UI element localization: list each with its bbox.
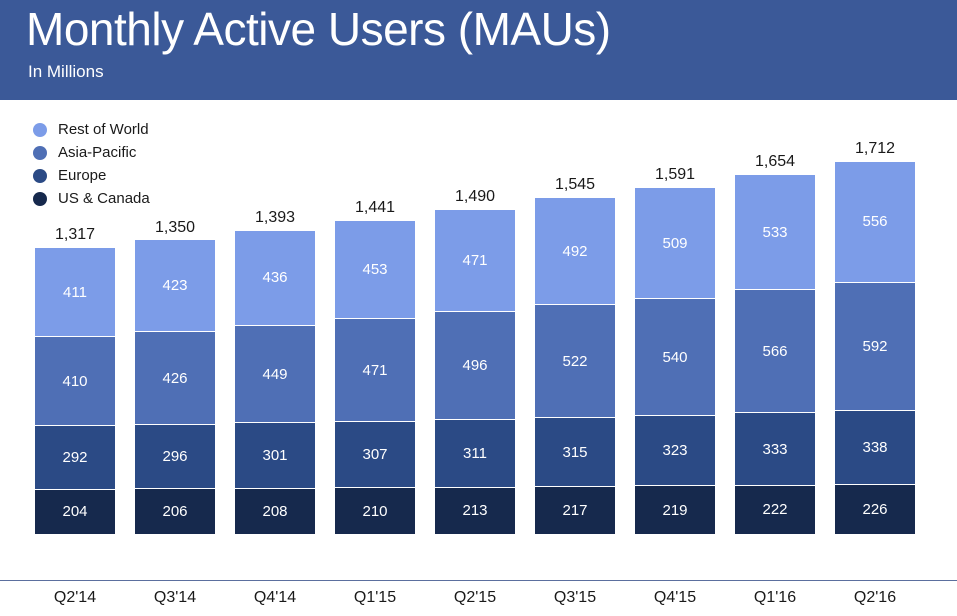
bar-segment: 533 [735, 175, 815, 291]
x-axis-tick-label: Q4'14 [225, 589, 325, 607]
bar-segment: 323 [635, 416, 715, 486]
bar-total-label: 1,545 [535, 176, 615, 194]
bar-segment-value: 296 [162, 448, 187, 465]
bar-segment: 213 [435, 488, 515, 534]
bar-segment: 471 [435, 210, 515, 312]
x-axis-tick-label: Q2'16 [825, 589, 925, 607]
page-title: Monthly Active Users (MAUs) [26, 2, 611, 56]
bar-segment: 449 [235, 326, 315, 424]
bar-segment: 496 [435, 312, 515, 420]
bar-segment-value: 453 [362, 261, 387, 278]
bar-segment: 540 [635, 299, 715, 416]
x-axis-tick-label: Q1'15 [325, 589, 425, 607]
slide: Monthly Active Users (MAUs) In Millions … [0, 0, 957, 616]
bar-segment-value: 226 [862, 501, 887, 518]
bar-segment-value: 219 [662, 502, 687, 519]
stacked-bar: 453471307210 [335, 221, 415, 534]
bar-segment-value: 592 [862, 338, 887, 355]
bar-segment-value: 471 [462, 252, 487, 269]
bar-segment: 423 [135, 240, 215, 332]
bar-total-label: 1,317 [35, 226, 115, 244]
bar-total-label: 1,712 [835, 140, 915, 158]
bar-segment: 204 [35, 490, 115, 534]
x-axis-tick-label: Q3'14 [125, 589, 225, 607]
bar-total-label: 1,441 [335, 199, 415, 217]
bar-total-label: 1,490 [435, 188, 515, 206]
bar-segment: 206 [135, 489, 215, 534]
bar-segment: 566 [735, 290, 815, 413]
bar-segment-value: 301 [262, 447, 287, 464]
bar-segment: 333 [735, 413, 815, 485]
bar-segment: 219 [635, 486, 715, 534]
x-axis-labels: Q2'14Q3'14Q4'14Q1'15Q2'15Q3'15Q4'15Q1'16… [0, 581, 957, 616]
bar-segment-value: 217 [562, 502, 587, 519]
bar-segment-value: 540 [662, 349, 687, 366]
bar-segment: 411 [35, 248, 115, 337]
stacked-bar: 492522315217 [535, 198, 615, 534]
bar-segment: 556 [835, 162, 915, 283]
bar-segment-value: 509 [662, 235, 687, 252]
stacked-bar: 509540323219 [635, 188, 715, 534]
bar-segment-value: 566 [762, 343, 787, 360]
bar-segment-value: 222 [762, 501, 787, 518]
x-axis-tick-label: Q3'15 [525, 589, 625, 607]
bar-segment-value: 206 [162, 503, 187, 520]
bar-segment: 338 [835, 411, 915, 484]
bar-segment-value: 292 [62, 449, 87, 466]
chart-plot-area: 4114102922041,3174234262962061,350436449… [0, 100, 957, 616]
bar-segment: 292 [35, 426, 115, 489]
bar-segment-value: 533 [762, 224, 787, 241]
bar-segment-value: 492 [562, 243, 587, 260]
x-axis-tick-label: Q2'15 [425, 589, 525, 607]
bar-segment: 410 [35, 337, 115, 426]
bar-segment: 592 [835, 283, 915, 412]
bar-segment-value: 556 [862, 213, 887, 230]
bar-segment-value: 315 [562, 444, 587, 461]
bar-segment-value: 423 [162, 277, 187, 294]
bar-total-label: 1,393 [235, 209, 315, 227]
bar-segment-value: 307 [362, 446, 387, 463]
bar-segment-value: 471 [362, 362, 387, 379]
bar-segment-value: 213 [462, 502, 487, 519]
bar-segment-value: 449 [262, 366, 287, 383]
bar-total-label: 1,654 [735, 153, 815, 171]
bar-segment: 301 [235, 423, 315, 488]
stacked-bar: 471496311213 [435, 210, 515, 534]
x-axis-tick-label: Q4'15 [625, 589, 725, 607]
bar-segment-value: 323 [662, 442, 687, 459]
bar-segment: 226 [835, 485, 915, 534]
bar-segment: 315 [535, 418, 615, 486]
bar-segment: 307 [335, 422, 415, 489]
bar-segment-value: 436 [262, 269, 287, 286]
bar-segment-value: 496 [462, 357, 487, 374]
bar-segment: 492 [535, 198, 615, 305]
header-band: Monthly Active Users (MAUs) In Millions [0, 0, 957, 100]
stacked-bar: 411410292204 [35, 248, 115, 534]
stacked-bar: 533566333222 [735, 175, 815, 534]
bar-segment-value: 411 [63, 284, 87, 301]
x-axis-tick-label: Q1'16 [725, 589, 825, 607]
bar-segment-value: 426 [162, 370, 187, 387]
bar-segment: 208 [235, 489, 315, 534]
bar-segment: 471 [335, 319, 415, 421]
bar-segment-value: 333 [762, 441, 787, 458]
stacked-bar: 423426296206 [135, 240, 215, 534]
bar-segment: 509 [635, 188, 715, 299]
bar-segment: 296 [135, 425, 215, 489]
bar-total-label: 1,591 [635, 166, 715, 184]
bar-segment-value: 522 [562, 353, 587, 370]
bar-segment: 426 [135, 332, 215, 425]
page-subtitle: In Millions [28, 62, 104, 82]
bar-segment-value: 210 [362, 503, 387, 520]
bar-segment: 210 [335, 488, 415, 534]
bar-segment: 453 [335, 221, 415, 319]
bar-container: 4114102922041,3174234262962061,350436449… [0, 100, 957, 580]
x-axis-tick-label: Q2'14 [25, 589, 125, 607]
bar-segment: 217 [535, 487, 615, 534]
bar-segment: 222 [735, 486, 815, 534]
bar-segment: 436 [235, 231, 315, 326]
stacked-bar: 556592338226 [835, 162, 915, 534]
bar-segment-value: 311 [463, 445, 487, 462]
bar-segment-value: 410 [62, 373, 87, 390]
bar-segment-value: 204 [62, 503, 87, 520]
bar-segment-value: 208 [262, 503, 287, 520]
bar-segment-value: 338 [862, 439, 887, 456]
bar-segment: 311 [435, 420, 515, 488]
stacked-bar: 436449301208 [235, 231, 315, 534]
bar-total-label: 1,350 [135, 219, 215, 237]
bar-segment: 522 [535, 305, 615, 418]
